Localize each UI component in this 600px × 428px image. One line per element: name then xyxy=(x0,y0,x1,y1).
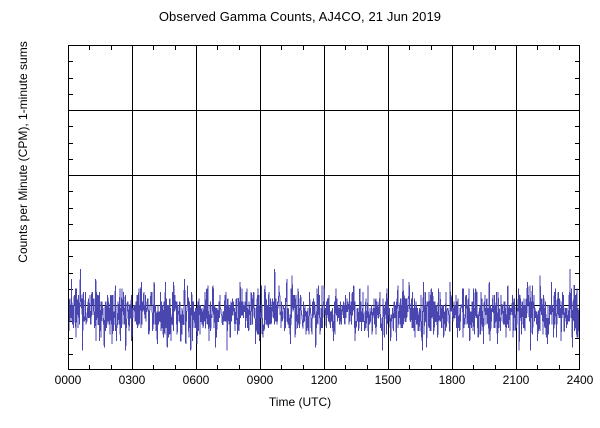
chart-title: Observed Gamma Counts, AJ4CO, 21 Jun 201… xyxy=(0,9,600,24)
gamma-counts-chart-figure: Observed Gamma Counts, AJ4CO, 21 Jun 201… xyxy=(0,0,600,428)
x-tick-label: 2400 xyxy=(540,374,600,386)
y-axis-label: Counts per Minute (CPM), 1-minute sums xyxy=(16,0,30,317)
plot-svg xyxy=(68,45,580,370)
x-axis-label: Time (UTC) xyxy=(0,395,600,409)
plot-area xyxy=(68,45,580,370)
